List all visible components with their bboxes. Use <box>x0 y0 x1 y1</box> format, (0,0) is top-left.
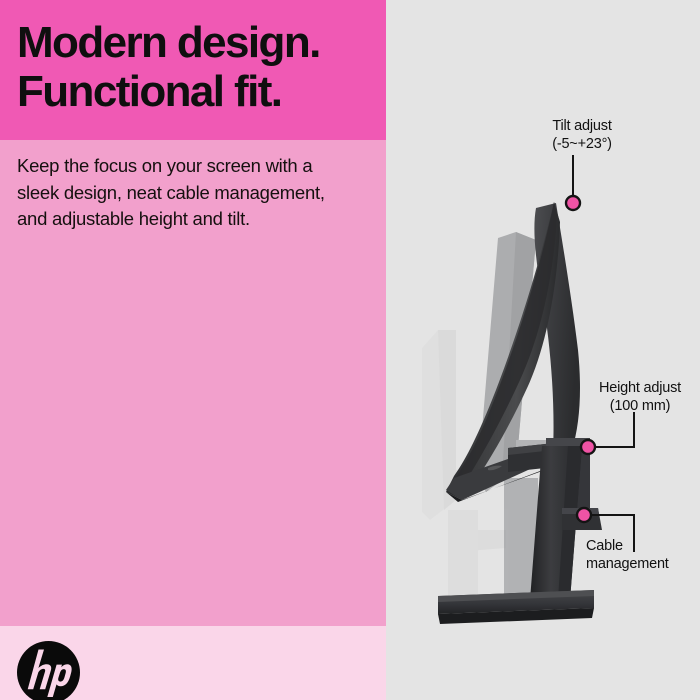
callout-height-line-2: (100 mm) <box>582 397 698 415</box>
marketing-card: Modern design. Functional fit. Keep the … <box>0 0 700 700</box>
headline-line-2: Functional fit. <box>17 67 377 116</box>
callout-height-adjust: Height adjust (100 mm) <box>582 379 698 415</box>
connector-height <box>592 412 634 447</box>
callout-tilt-adjust: Tilt adjust (-5~+23°) <box>522 117 642 153</box>
right-product-panel: Tilt adjust (-5~+23°) Height adjust (100… <box>386 0 700 700</box>
body-line-3: and adjustable height and tilt. <box>17 206 369 233</box>
callout-tilt-line-2: (-5~+23°) <box>522 135 642 153</box>
headline-line-1: Modern design. <box>17 18 320 67</box>
left-text-panel: Modern design. Functional fit. Keep the … <box>0 0 386 700</box>
marker-tilt-adjust <box>566 196 580 210</box>
callout-cable-management: Cable management <box>586 537 696 573</box>
body-copy: Keep the focus on your screen with a sle… <box>17 153 369 233</box>
marker-cable-management <box>577 508 591 522</box>
body-line-2: sleek design, neat cable management, <box>17 180 369 207</box>
hp-logo <box>17 641 80 700</box>
headline: Modern design. Functional fit. <box>17 18 377 116</box>
callout-cable-line-1: Cable <box>586 537 696 555</box>
callout-cable-line-2: management <box>586 555 696 573</box>
callout-tilt-line-1: Tilt adjust <box>522 117 642 135</box>
callout-height-line-1: Height adjust <box>582 379 698 397</box>
monitor-illustration <box>386 0 700 700</box>
body-line-1: Keep the focus on your screen with a <box>17 153 369 180</box>
marker-height-adjust <box>581 440 595 454</box>
